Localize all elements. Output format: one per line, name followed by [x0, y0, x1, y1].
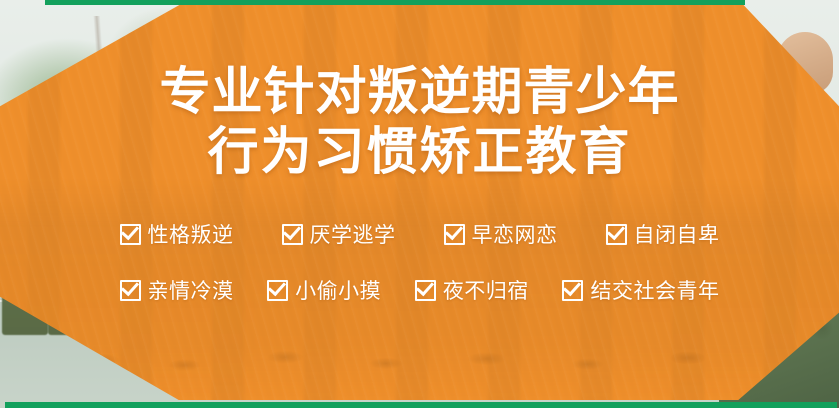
checkbox-checked-icon [282, 224, 303, 245]
checklist-item[interactable]: 结交社会青年 [562, 275, 719, 305]
checklist-row: 性格叛逆 厌学逃学 早恋网恋 自闭自卑 [120, 219, 720, 249]
checkbox-checked-icon [606, 224, 627, 245]
headline-line-2: 行为习惯矫正教育 [159, 122, 679, 182]
green-rule-bottom [5, 402, 837, 408]
checklist-item[interactable]: 厌学逃学 [282, 219, 396, 249]
checkbox-checked-icon [120, 224, 141, 245]
checklist-row: 亲情冷漠 小偷小摸 夜不归宿 结交社会青年 [120, 275, 720, 305]
checklist-item-label: 早恋网恋 [472, 219, 558, 249]
banner-content: 专业针对叛逆期青少年 行为习惯矫正教育 性格叛逆 厌学逃学 早恋网恋 [0, 0, 839, 408]
checklist-item-label: 亲情冷漠 [148, 275, 234, 305]
checkbox-checked-icon [562, 280, 583, 301]
promo-banner: 专业针对叛逆期青少年 行为习惯矫正教育 性格叛逆 厌学逃学 早恋网恋 [0, 0, 839, 408]
checkbox-checked-icon [120, 280, 141, 301]
checklist-item-label: 性格叛逆 [148, 219, 234, 249]
checklist-item-label: 厌学逃学 [310, 219, 396, 249]
checklist-item-label: 自闭自卑 [634, 219, 720, 249]
headline: 专业针对叛逆期青少年 行为习惯矫正教育 [159, 62, 679, 181]
headline-line-1: 专业针对叛逆期青少年 [159, 62, 679, 122]
checklist-item-label: 结交社会青年 [590, 275, 719, 305]
green-rule-top [45, 0, 745, 5]
checklist-item[interactable]: 自闭自卑 [606, 219, 720, 249]
checklist-item[interactable]: 性格叛逆 [120, 219, 234, 249]
checklist: 性格叛逆 厌学逃学 早恋网恋 自闭自卑 亲情冷漠 [120, 219, 720, 331]
checkbox-checked-icon [444, 224, 465, 245]
checklist-item[interactable]: 小偷小摸 [267, 275, 381, 305]
checklist-item[interactable]: 早恋网恋 [444, 219, 558, 249]
checklist-item-label: 小偷小摸 [295, 275, 381, 305]
checkbox-checked-icon [267, 280, 288, 301]
checkbox-checked-icon [415, 280, 436, 301]
checklist-item-label: 夜不归宿 [443, 275, 529, 305]
checklist-item[interactable]: 夜不归宿 [415, 275, 529, 305]
checklist-item[interactable]: 亲情冷漠 [120, 275, 234, 305]
